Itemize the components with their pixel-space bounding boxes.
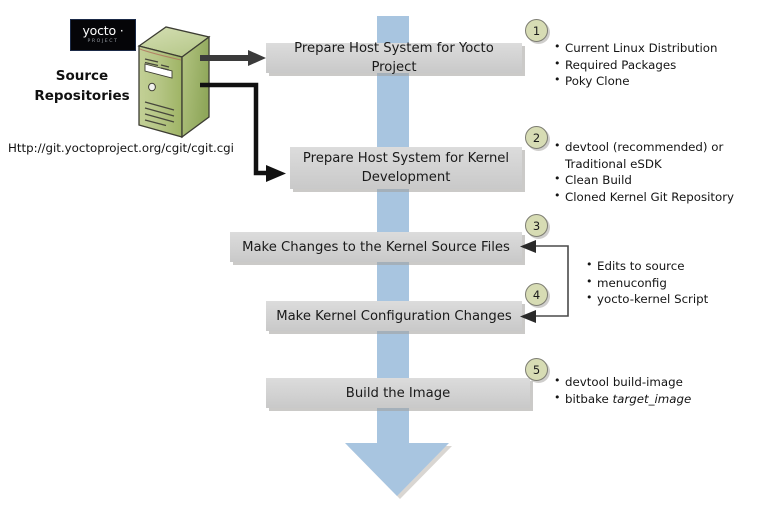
process-box-prepare-host-kernel[interactable]: Prepare Host System for Kernel Developme… (290, 147, 522, 189)
server-tower-icon (136, 24, 212, 142)
note-item-bitbake: bitbake target_image (565, 391, 691, 408)
note-item: Cloned Kernel Git Repository (565, 189, 734, 206)
diagram-canvas: yocto · PROJECT Source Repositories Http… (0, 0, 769, 517)
process-box-make-changes-kernel-source[interactable]: Make Changes to the Kernel Source Files (230, 232, 522, 262)
step-number-label: 1 (533, 24, 540, 38)
note-item: Edits to source (597, 258, 708, 275)
source-repositories-url: Http://git.yoctoproject.org/cgit/cgit.cg… (8, 141, 234, 155)
step-number-label: 3 (533, 219, 540, 233)
note-item: Current Linux Distribution (565, 40, 717, 57)
note-item-continuation: Traditional eSDK (565, 156, 734, 173)
source-repositories-line1: Source (18, 66, 146, 86)
steps-3-4-notes: Edits to source menuconfig yocto-kernel … (584, 258, 708, 308)
step-number-label: 4 (533, 288, 540, 302)
process-box-label: Make Kernel Configuration Changes (276, 307, 512, 326)
step-5-notes: devtool build-image bitbake target_image (552, 374, 691, 407)
step-number-5: 5 (525, 358, 548, 381)
source-repositories-line2: Repositories (18, 86, 146, 106)
note-item: Poky Clone (565, 73, 717, 90)
note-item-emphasis: target_image (613, 392, 692, 406)
step-number-1: 1 (525, 19, 548, 42)
yocto-logo-subtitle: PROJECT (71, 39, 135, 44)
step-number-2: 2 (525, 126, 548, 149)
process-box-build-the-image[interactable]: Build the Image (266, 378, 530, 408)
source-repositories-label: Source Repositories (18, 66, 146, 106)
yocto-logo-wordmark: yocto · (71, 24, 135, 37)
step-1-notes: Current Linux Distribution Required Pack… (552, 40, 717, 90)
note-item: yocto-kernel Script (597, 291, 708, 308)
flow-arrow-head (345, 443, 449, 496)
note-item: devtool build-image (565, 374, 691, 391)
note-item: devtool (recommended) or (565, 139, 734, 156)
process-box-label: Build the Image (346, 384, 450, 403)
note-item: Clean Build (565, 172, 734, 189)
process-box-label: Prepare Host System for Yocto Project (274, 39, 514, 77)
process-box-label: Make Changes to the Kernel Source Files (242, 238, 510, 257)
note-item: Required Packages (565, 57, 717, 74)
step-2-notes: devtool (recommended) or Traditional eSD… (552, 139, 734, 205)
step-number-label: 5 (533, 363, 540, 377)
step-number-4: 4 (525, 283, 548, 306)
process-box-label: Prepare Host System for Kernel Developme… (298, 149, 514, 187)
step-number-3: 3 (525, 214, 548, 237)
note-item-prefix: bitbake (565, 392, 613, 406)
process-box-prepare-host-yocto[interactable]: Prepare Host System for Yocto Project (266, 43, 522, 73)
yocto-project-logo: yocto · PROJECT (70, 19, 136, 51)
note-item: menuconfig (597, 275, 708, 292)
process-box-make-kernel-config-changes[interactable]: Make Kernel Configuration Changes (266, 301, 522, 331)
step-number-label: 2 (533, 131, 540, 145)
